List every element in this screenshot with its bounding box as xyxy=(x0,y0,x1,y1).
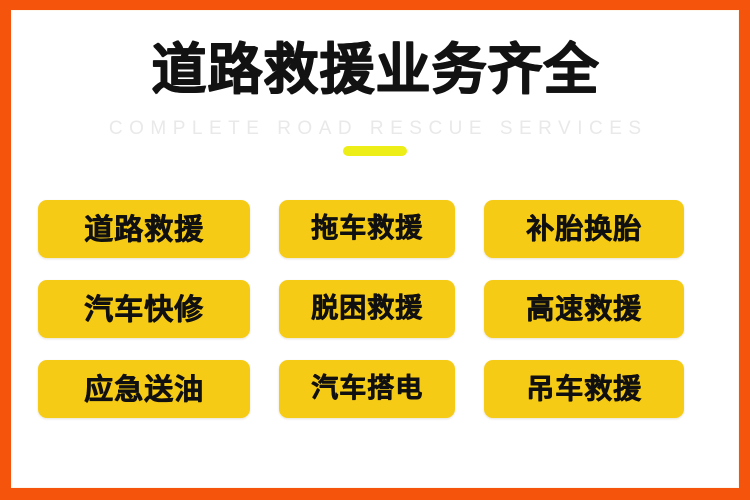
poster-header: 道路救援业务齐全 COMPLETE ROAD RESCUE SERVICES xyxy=(11,10,739,170)
service-button-jump-start[interactable]: 汽车搭电 xyxy=(279,360,455,418)
service-button-highway-rescue[interactable]: 高速救援 xyxy=(484,280,684,338)
page-title: 道路救援业务齐全 xyxy=(11,38,739,100)
service-grid: 道路救援 拖车救援 补胎换胎 汽车快修 脱困救援 高速救援 应急送油 汽车搭电 … xyxy=(38,200,684,418)
service-button-quick-car-repair[interactable]: 汽车快修 xyxy=(38,280,250,338)
poster-frame: 道路救援业务齐全 COMPLETE ROAD RESCUE SERVICES 道… xyxy=(0,0,750,500)
service-button-emergency-fuel-delivery[interactable]: 应急送油 xyxy=(38,360,250,418)
service-button-tire-repair-replace[interactable]: 补胎换胎 xyxy=(484,200,684,258)
page-subtitle: COMPLETE ROAD RESCUE SERVICES xyxy=(11,118,739,140)
service-button-crane-rescue[interactable]: 吊车救援 xyxy=(484,360,684,418)
service-button-road-rescue[interactable]: 道路救援 xyxy=(38,200,250,258)
accent-underline-bar xyxy=(343,146,407,156)
poster-canvas: 道路救援业务齐全 COMPLETE ROAD RESCUE SERVICES 道… xyxy=(11,10,739,488)
service-button-extrication-rescue[interactable]: 脱困救援 xyxy=(279,280,455,338)
service-button-tow-rescue[interactable]: 拖车救援 xyxy=(279,200,455,258)
